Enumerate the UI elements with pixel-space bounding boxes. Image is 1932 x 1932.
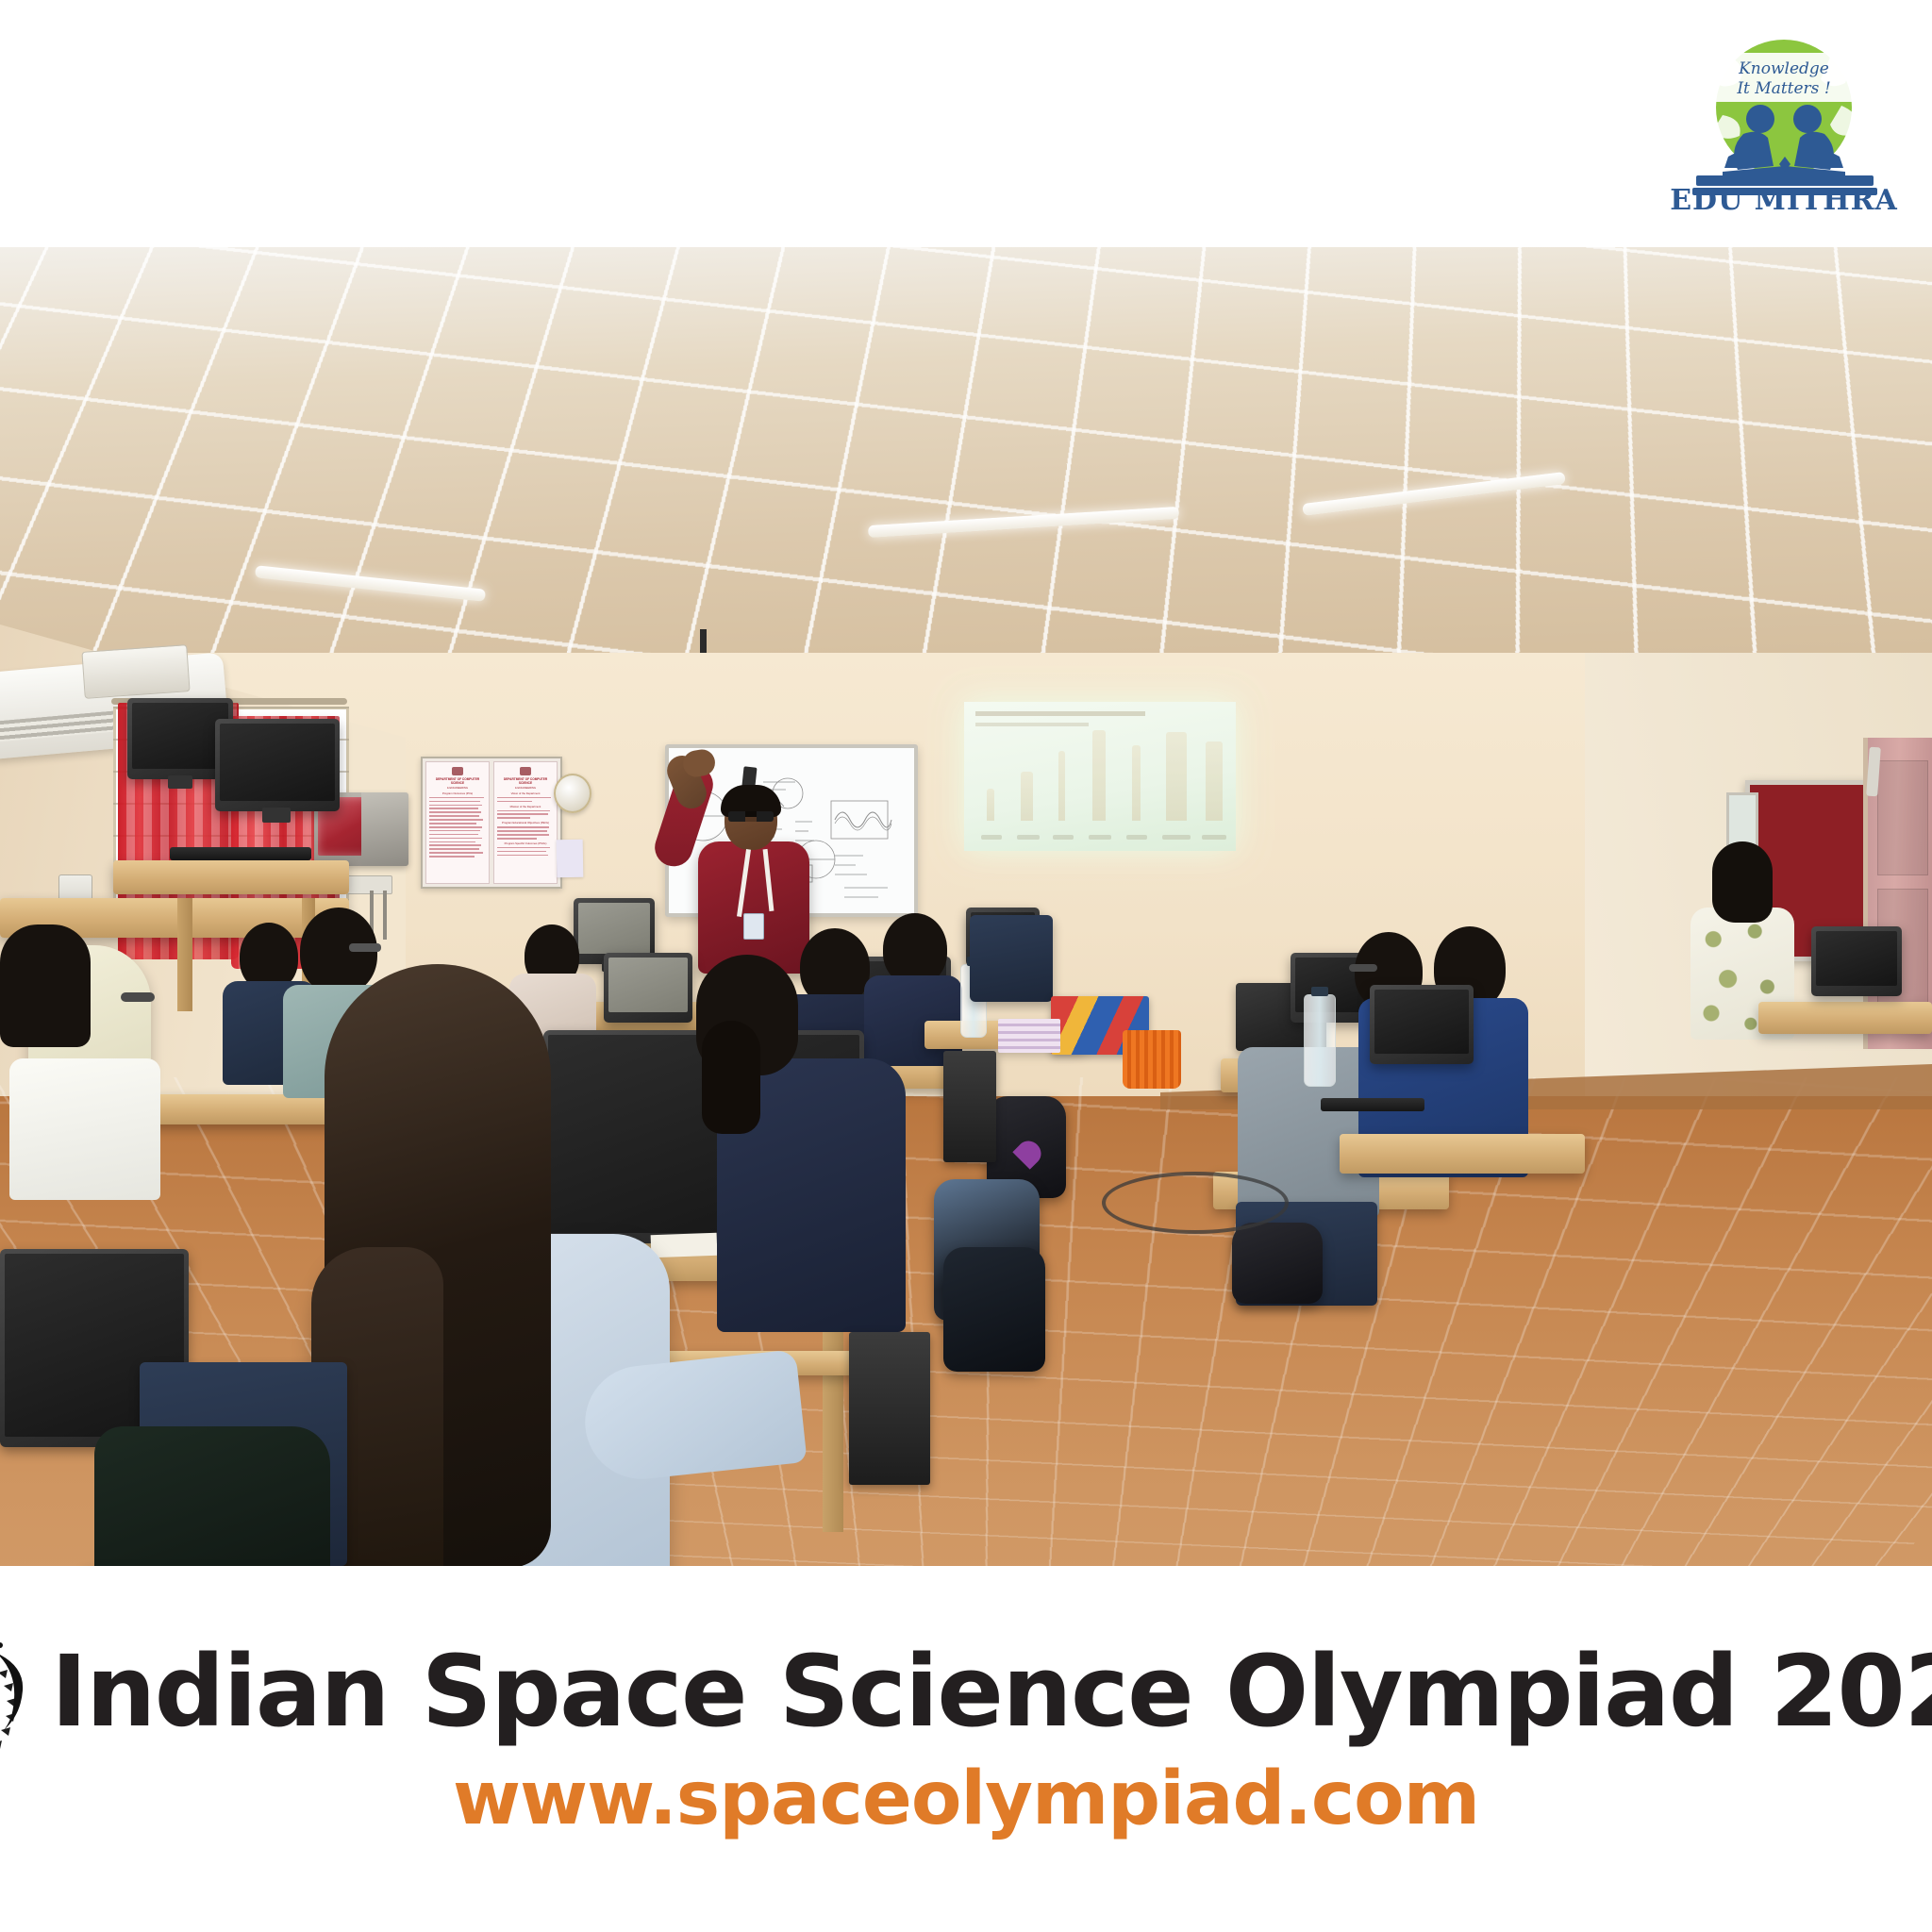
computer-desk	[1758, 1002, 1932, 1034]
desk-leg	[177, 898, 192, 1011]
student-glasses	[349, 943, 381, 952]
event-title: Indian Space Science Olympiad 2023	[51, 1641, 1932, 1742]
notice-subheading: & ENGINEERING	[497, 786, 554, 790]
notice-section: Program Educational Objectives (PEOs)	[497, 821, 554, 824]
emblem-icon	[520, 767, 531, 775]
cable	[383, 891, 387, 940]
logo-tagline-line2: It Matters !	[1736, 79, 1830, 98]
computer-desk	[113, 860, 349, 894]
poster-root: Knowledge It Matters ! EDU MITHRA	[0, 0, 1932, 1932]
instructor-glasses	[728, 811, 774, 822]
keyboard	[1321, 1098, 1424, 1111]
floor-cable	[1102, 1172, 1289, 1234]
student-hair	[0, 924, 91, 1047]
cpu-tower	[849, 1332, 930, 1485]
notice-subheading: & ENGINEERING	[429, 786, 486, 790]
event-banner: Indian Space Science Olympiad 2023 www.s…	[0, 1566, 1932, 1932]
logo-brand-text: EDU MITHRA	[1670, 184, 1898, 213]
notice-heading: DEPARTMENT OF COMPUTER SCIENCE	[497, 777, 554, 786]
backpack	[1232, 1223, 1323, 1304]
student-glasses	[121, 992, 155, 1002]
books-stack	[998, 1019, 1060, 1053]
notice-right: DEPARTMENT OF COMPUTER SCIENCE & ENGINEE…	[493, 761, 558, 884]
projection-screen	[964, 702, 1236, 851]
water-bottle	[1304, 994, 1336, 1087]
waste-basket	[1123, 1030, 1181, 1089]
paper-sheet	[651, 1233, 718, 1257]
cpu-tower	[943, 1051, 996, 1162]
wall-paper-note	[557, 840, 584, 877]
instructor-id-card	[743, 913, 764, 940]
chair	[970, 915, 1053, 1002]
monitor	[1811, 926, 1902, 996]
student-hijab-body	[9, 1058, 160, 1200]
monitor	[215, 719, 340, 811]
notice-section: Program Outcomes (POs)	[429, 791, 486, 795]
notice-section: Program Specific Outcomes (PSOs)	[497, 841, 554, 845]
emblem-icon	[452, 767, 463, 775]
monitor	[1370, 985, 1474, 1064]
student-ponytail	[702, 1021, 760, 1134]
backpack	[943, 1247, 1045, 1372]
monitor-stand	[262, 808, 291, 823]
ceiling	[0, 247, 1932, 691]
notice-section: Vision of the Department	[497, 791, 554, 795]
department-notice-boards: DEPARTMENT OF COMPUTER SCIENCE & ENGINEE…	[421, 757, 562, 889]
notice-section: Mission of the Department	[497, 805, 554, 808]
classroom-photo: DEPARTMENT OF COMPUTER SCIENCE & ENGINEE…	[0, 247, 1932, 1566]
standing-woman-hair	[1712, 841, 1773, 923]
ac-indoor-box	[81, 644, 190, 699]
logo-tagline-line1: Knowledge	[1738, 59, 1829, 78]
monitor-stand	[168, 775, 192, 789]
student-head	[883, 913, 947, 985]
keyboard	[170, 847, 311, 860]
edu-mithra-logo: Knowledge It Matters ! EDU MITHRA	[1657, 25, 1911, 213]
cabinet-door	[361, 792, 408, 866]
student-glasses	[1349, 964, 1377, 972]
space-shuttle-laurel-emblem	[0, 1621, 26, 1762]
instructor-torso	[698, 841, 809, 974]
computer-desk	[1340, 1134, 1585, 1174]
notice-heading: DEPARTMENT OF COMPUTER SCIENCE	[429, 777, 486, 786]
jacket-on-chair	[94, 1426, 330, 1566]
header-bar: Knowledge It Matters ! EDU MITHRA	[0, 0, 1932, 247]
wall-clock	[554, 774, 591, 813]
event-url[interactable]: www.spaceolympiad.com	[0, 1757, 1932, 1841]
notice-left: DEPARTMENT OF COMPUTER SCIENCE & ENGINEE…	[425, 761, 490, 884]
monitor	[604, 953, 692, 1023]
